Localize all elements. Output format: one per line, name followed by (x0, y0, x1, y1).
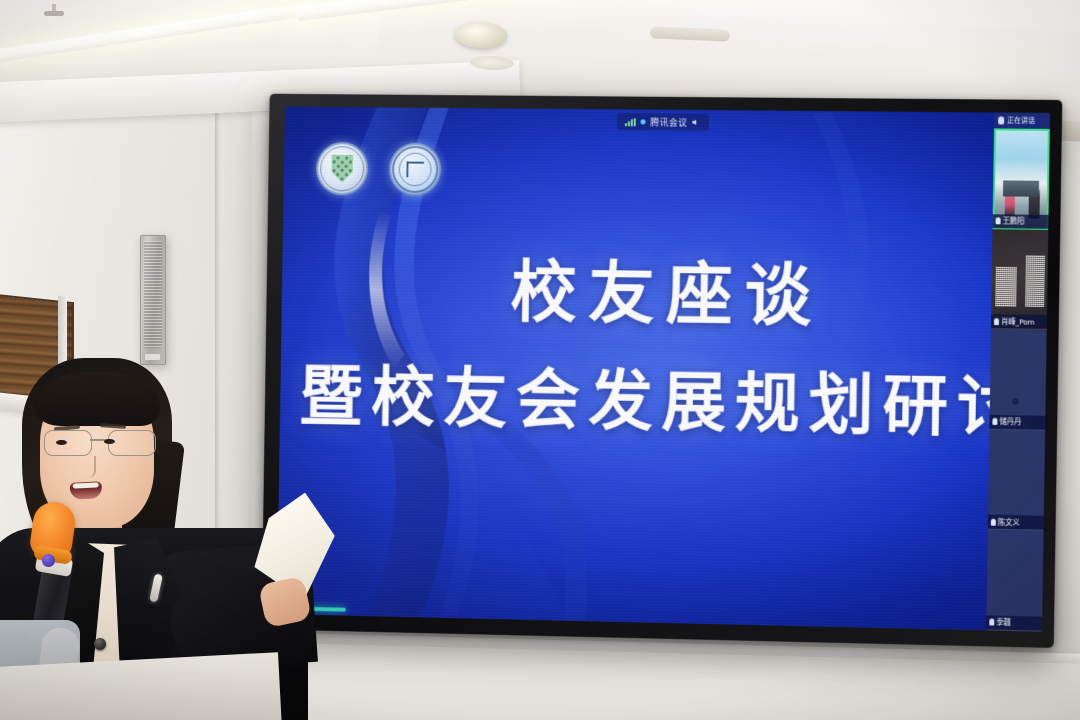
participant-name: 陈文义 (998, 517, 1020, 528)
participant-tile[interactable]: 肖峰_Pom (991, 229, 1048, 330)
lens (108, 430, 156, 456)
university-emblem-seal-icon (389, 143, 442, 197)
participant-name: 储丹丹 (999, 416, 1021, 427)
speaker-grille (144, 241, 162, 348)
sprinkler-head (44, 4, 64, 20)
mic-icon (991, 519, 996, 526)
eye (104, 439, 115, 444)
slide-logo-row (316, 142, 442, 196)
meeting-participant-filmstrip[interactable]: 正在讲话 王鹏阳 (986, 112, 1050, 631)
filmstrip-scroll-cue[interactable] (1012, 398, 1019, 405)
mic-icon (996, 217, 1001, 224)
emblem-glyph (406, 162, 424, 178)
participant-name: 季疆 (996, 617, 1011, 628)
nose (80, 456, 96, 478)
participant-namebar: 王鹏阳 (993, 214, 1049, 229)
screenshot-scene: 腾讯会议 校友座谈 (0, 0, 1080, 720)
participant-tile[interactable]: 陈文义 (988, 430, 1045, 532)
meeting-status-pill: 腾讯会议 (617, 113, 709, 131)
display-screen[interactable]: 腾讯会议 校友座谈 (277, 107, 1050, 632)
participant-name: 王鹏阳 (1002, 215, 1024, 226)
participant-namebar: 季疆 (986, 615, 1042, 630)
participant-namebar: 肖峰_Pom (991, 314, 1047, 329)
speaker-icon (692, 118, 701, 127)
wall-display[interactable]: 腾讯会议 校友座谈 (261, 94, 1062, 648)
filmstrip-header: 正在讲话 (994, 112, 1050, 128)
mic-icon (992, 418, 997, 425)
participant-tile[interactable]: 王鹏阳 (992, 128, 1049, 229)
participant-namebar: 储丹丹 (989, 415, 1045, 430)
participant-tile[interactable]: 储丹丹 (989, 329, 1046, 430)
participant-figure (1005, 186, 1016, 216)
signal-bars-icon (625, 118, 636, 126)
participant-namebar: 陈文义 (988, 515, 1044, 530)
participant-tile[interactable]: 季疆 (986, 530, 1043, 632)
column-speaker (140, 235, 166, 365)
mic-icon (989, 619, 994, 626)
speaking-status-label: 正在讲话 (1007, 116, 1035, 126)
active-dot-icon (641, 119, 646, 124)
participant-name: 肖峰_Pom (1001, 316, 1035, 327)
eye (56, 440, 67, 445)
app-name-label: 腾讯会议 (650, 116, 687, 129)
display-bezel: 腾讯会议 校友座谈 (261, 94, 1062, 648)
participant-object (1025, 255, 1045, 307)
hair-fringe (34, 372, 160, 426)
mic-icon (998, 116, 1004, 124)
sprinkler-cap (44, 11, 64, 16)
university-emblem-shield-icon (316, 142, 369, 195)
blazer-button (94, 638, 106, 650)
lens (44, 430, 92, 456)
participant-figure (1028, 182, 1040, 218)
mic-icon (994, 318, 999, 325)
participant-object (996, 267, 1017, 307)
